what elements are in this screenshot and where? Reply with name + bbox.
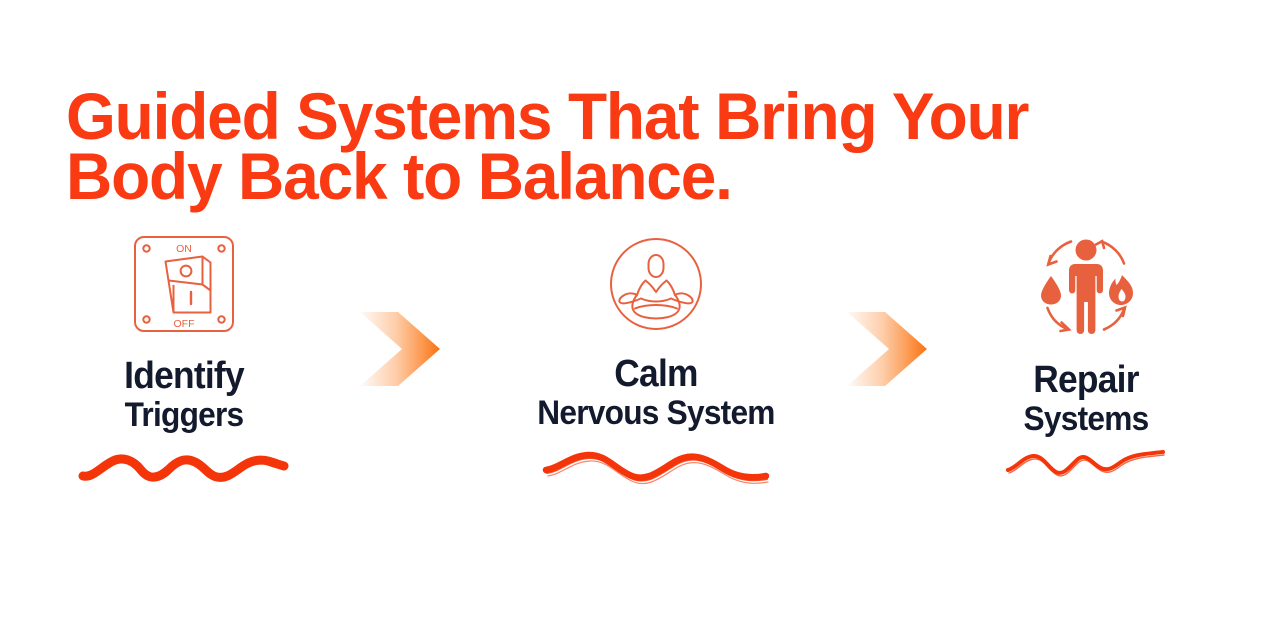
headline-line-1: Guided Systems That Bring Your <box>66 86 1017 146</box>
step-1-label: Identify Triggers <box>45 356 324 434</box>
chevron-arrow-right-icon <box>845 310 929 388</box>
step-2-label-bottom: Nervous System <box>517 394 796 432</box>
connector-chevron-2 <box>845 310 929 388</box>
step-2-icon-wrap <box>506 228 806 340</box>
water-droplet-icon <box>1041 276 1061 305</box>
step-1-icon-wrap: ON OFF <box>34 228 334 340</box>
steps-row: ON OFF Identify Triggers <box>0 228 1280 528</box>
lotus-meditation-icon <box>608 236 704 332</box>
step-3-label: Repair Systems <box>947 360 1226 438</box>
squiggle-underline-thin <box>1003 448 1169 482</box>
step-2-label-top: Calm <box>517 354 796 394</box>
switch-off-label: OFF <box>174 318 195 330</box>
step-2-squiggle-wrap <box>506 446 806 486</box>
step-1-label-bottom: Triggers <box>45 396 324 434</box>
chevron-arrow-right-icon <box>358 310 442 388</box>
headline-line-2: Body Back to Balance. <box>66 146 1017 206</box>
step-3-label-bottom: Systems <box>947 400 1226 438</box>
step-1-squiggle-wrap <box>34 448 334 488</box>
step-identify-triggers: ON OFF Identify Triggers <box>34 228 334 528</box>
flow-infographic-page: { "headline": { "line1": "Guided Systems… <box>0 0 1280 620</box>
switch-on-label: ON <box>176 243 192 255</box>
step-calm-nervous-system: Calm Nervous System <box>506 228 806 528</box>
human-figure-glyph <box>1069 240 1103 335</box>
step-3-label-top: Repair <box>947 360 1226 400</box>
rocker-switch-icon: ON OFF <box>132 234 236 334</box>
step-3-squiggle-wrap <box>936 448 1236 482</box>
squiggle-underline-brush <box>540 446 772 486</box>
step-3-icon-wrap <box>936 228 1236 340</box>
step-repair-systems: Repair Systems <box>936 228 1236 528</box>
step-2-label: Calm Nervous System <box>517 354 796 432</box>
connector-chevron-1 <box>358 310 442 388</box>
step-1-label-top: Identify <box>45 356 324 396</box>
body-systems-cycle-icon <box>1034 232 1138 336</box>
page-headline: Guided Systems That Bring Your Body Back… <box>66 86 1017 206</box>
squiggle-underline-thick <box>78 448 290 488</box>
